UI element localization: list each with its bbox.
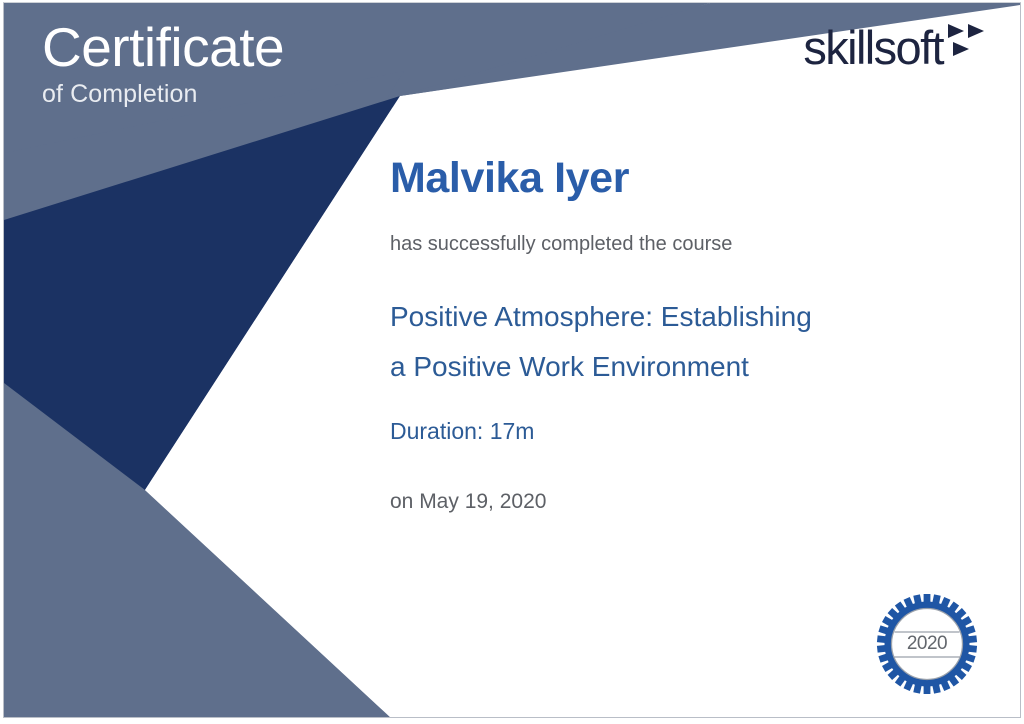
completion-statement: has successfully completed the course [390, 232, 950, 256]
skillsoft-triangles-icon [944, 22, 986, 64]
recipient-name: Malvika Iyer [390, 155, 950, 202]
brand-wordmark: skillsoft [803, 24, 943, 71]
certificate-header: Certificate of Completion [42, 18, 284, 109]
skillsoft-logo: skillsoft [803, 24, 986, 71]
award-seal-icon: 2020 [876, 593, 978, 695]
certificate-card: Certificate of Completion skillsoft Malv… [0, 0, 1024, 724]
certificate-body: Malvika Iyer has successfully completed … [390, 155, 950, 514]
page-title: Certificate [42, 18, 284, 77]
page-subtitle: of Completion [42, 81, 284, 109]
course-title: Positive Atmosphere: Establishing a Posi… [390, 292, 820, 392]
completion-date: on May 19, 2020 [390, 489, 950, 514]
course-duration: Duration: 17m [390, 418, 950, 446]
